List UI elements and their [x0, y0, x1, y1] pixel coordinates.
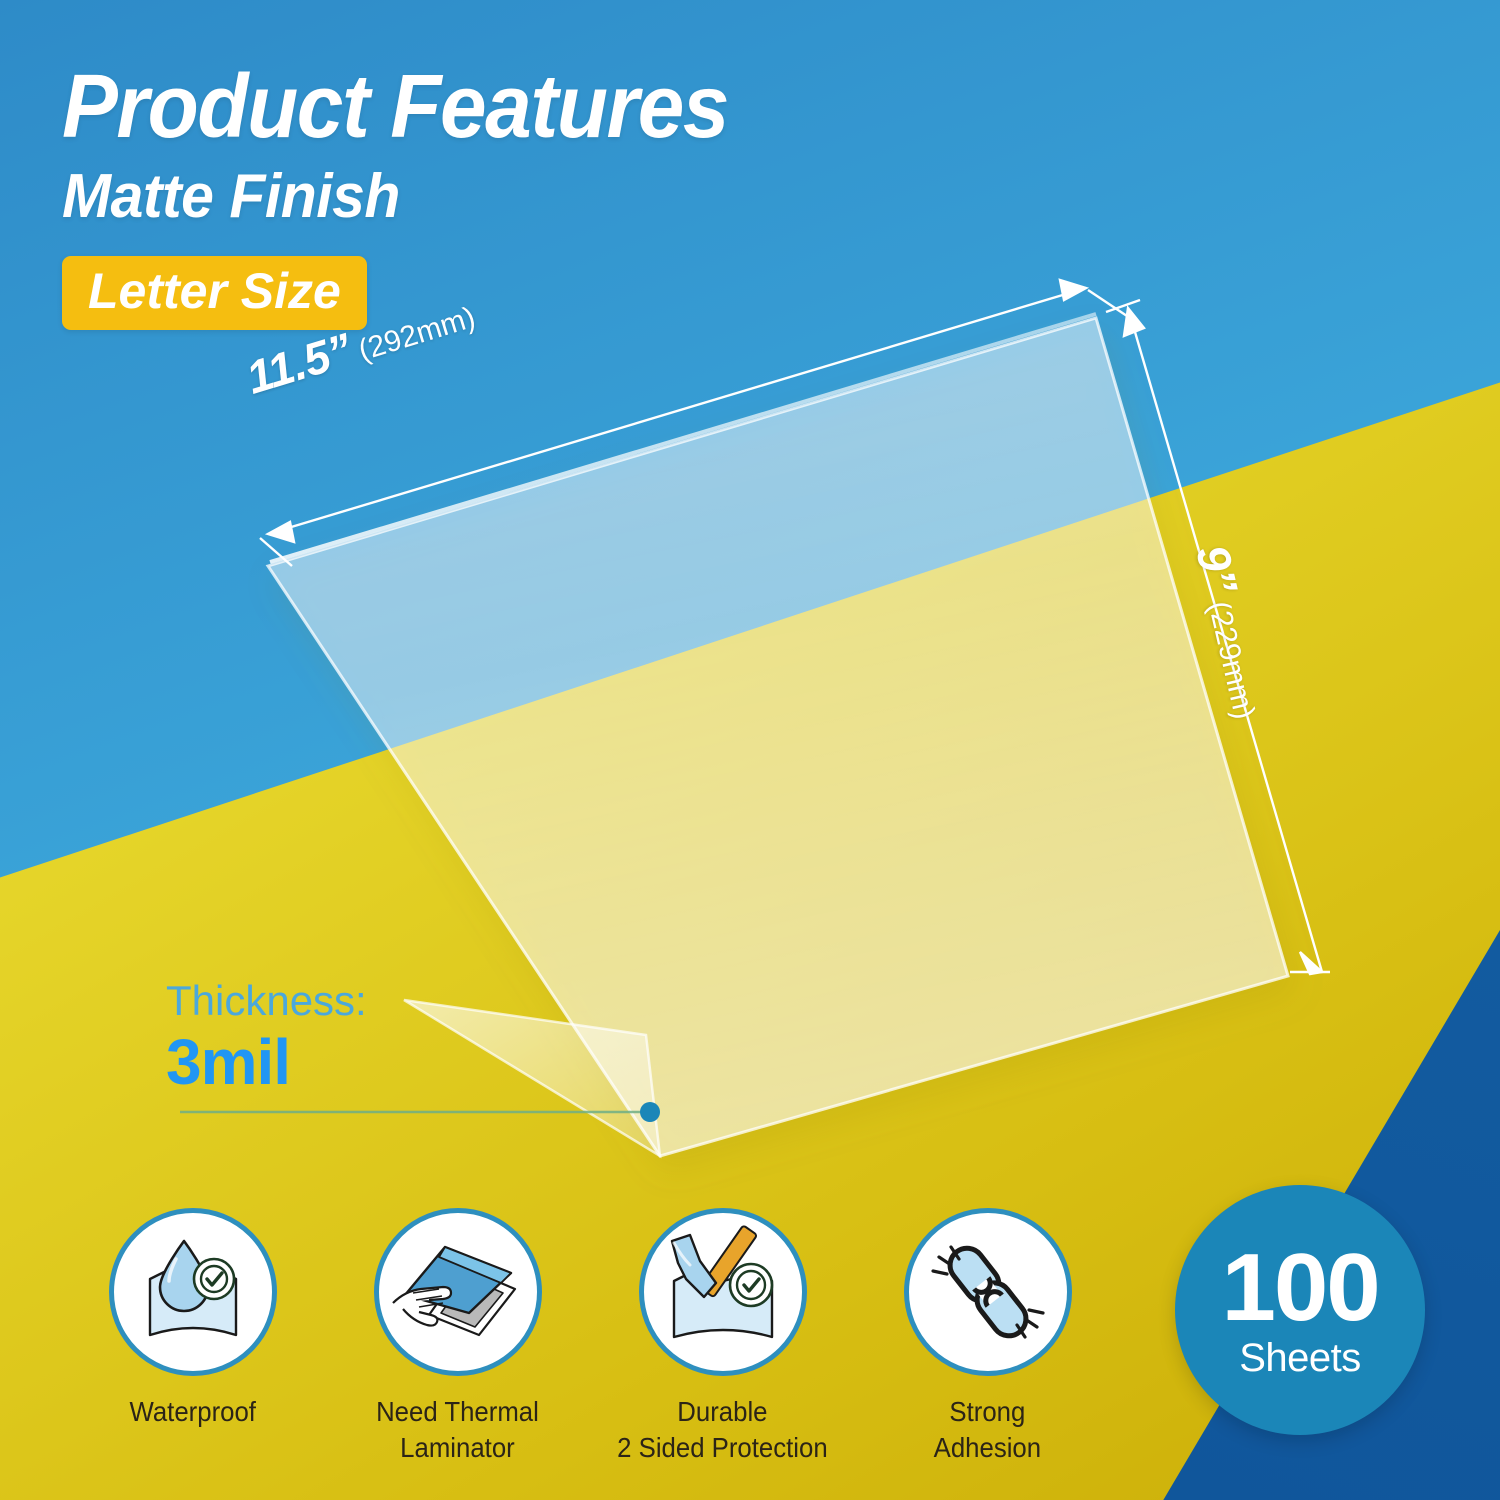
- feature-list: Waterproof Need ThermalLaminator: [60, 1208, 1120, 1466]
- sheet-count-unit: Sheets: [1239, 1338, 1361, 1378]
- feature-item: Need ThermalLaminator: [325, 1208, 590, 1466]
- feature-label: Durable2 Sided Protection: [617, 1394, 828, 1466]
- strong-adhesion-icon-badge: [904, 1208, 1072, 1376]
- thickness-block: Thickness: 3mil: [166, 980, 367, 1094]
- page-title: Product Features: [62, 62, 728, 152]
- durable-hammer-icon: [648, 1217, 798, 1367]
- sheet-count-value: 100: [1221, 1242, 1378, 1333]
- product-infographic: Product Features Matte Finish Letter Siz…: [0, 0, 1500, 1500]
- thickness-value: 3mil: [166, 1030, 367, 1094]
- feature-label: Need ThermalLaminator: [376, 1394, 539, 1466]
- waterproof-droplet-icon: [118, 1217, 268, 1367]
- sheet-count-badge: 100 Sheets: [1175, 1185, 1425, 1435]
- feature-label: StrongAdhesion: [934, 1394, 1041, 1466]
- page-subtitle: Matte Finish: [62, 166, 742, 228]
- strong-adhesion-chain-icon: [913, 1217, 1063, 1367]
- thermal-laminator-icon-badge: [374, 1208, 542, 1376]
- thickness-label: Thickness:: [166, 980, 367, 1022]
- feature-item: Durable2 Sided Protection: [590, 1208, 855, 1466]
- feature-item: Waterproof: [60, 1208, 325, 1466]
- size-badge: Letter Size: [62, 256, 367, 330]
- height-value: 9”: [1186, 540, 1247, 598]
- feature-label: Waterproof: [129, 1394, 255, 1430]
- waterproof-icon-badge: [109, 1208, 277, 1376]
- feature-item: StrongAdhesion: [855, 1208, 1120, 1466]
- durable-icon-badge: [639, 1208, 807, 1376]
- thermal-laminator-hands-icon: [383, 1217, 533, 1367]
- header-text-block: Product Features Matte Finish Letter Siz…: [62, 62, 778, 330]
